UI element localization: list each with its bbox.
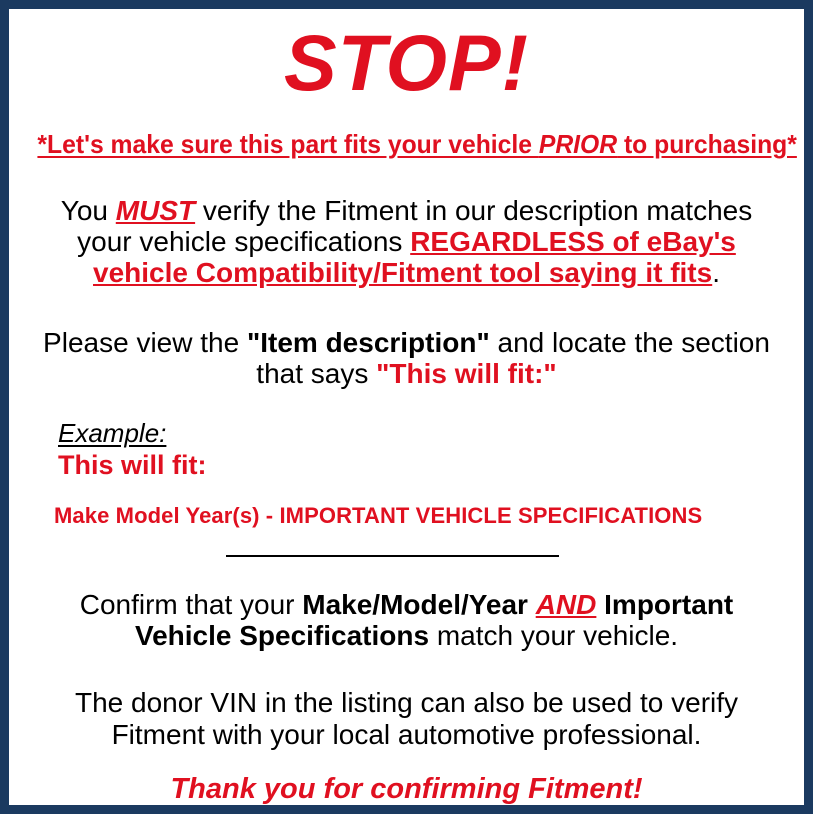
example-spec-line: Make Model Year(s) - IMPORTANT VEHICLE S… <box>54 503 795 528</box>
confirm-paragraph: Confirm that your Make/Model/Year AND Im… <box>18 589 795 652</box>
confirm-space1 <box>528 589 536 620</box>
example-label: Example: <box>58 419 166 449</box>
subtitle-part1: *Let's make sure this part fits your veh… <box>37 129 538 159</box>
must-seg3: . <box>712 257 720 288</box>
example-block: Example: This will fit: Make Model Year(… <box>18 419 795 528</box>
view-seg1: Please view the <box>43 327 247 358</box>
and-emphasis: AND <box>536 589 597 620</box>
notice-inner: STOP! *Let's make sure this part fits yo… <box>9 23 804 814</box>
view-description-paragraph: Please view the "Item description" and l… <box>18 327 795 390</box>
confirm-seg1: Confirm that your <box>80 589 303 620</box>
thank-you-line: Thank you for confirming Fitment! <box>18 774 795 806</box>
vin-paragraph: The donor VIN in the listing can also be… <box>18 687 795 750</box>
subtitle-line: *Let's make sure this part fits your veh… <box>37 130 775 159</box>
must-emphasis: MUST <box>116 195 195 226</box>
example-label-row: Example: <box>58 419 795 449</box>
vin-line2: with your local automotive professional. <box>213 719 702 750</box>
subtitle-emphasis-prior: PRIOR <box>539 129 617 159</box>
fitment-notice-card: STOP! *Let's make sure this part fits yo… <box>0 0 813 814</box>
item-description-emphasis: "Item description" <box>247 327 490 358</box>
section-divider <box>226 555 559 557</box>
make-model-year-emphasis: Make/Model/Year <box>302 589 528 620</box>
subtitle-part2: to purchasing* <box>617 129 797 159</box>
example-fit-heading: This will fit: <box>58 450 795 481</box>
must-seg1: You <box>61 195 116 226</box>
page-title: STOP! <box>18 23 795 102</box>
this-will-fit-emphasis: "This will fit:" <box>376 358 557 389</box>
confirm-seg2: match your vehicle. <box>429 620 678 651</box>
must-verify-paragraph: You MUST verify the Fitment in our descr… <box>18 195 795 289</box>
divider-wrap <box>18 555 795 559</box>
confirm-space2 <box>596 589 604 620</box>
